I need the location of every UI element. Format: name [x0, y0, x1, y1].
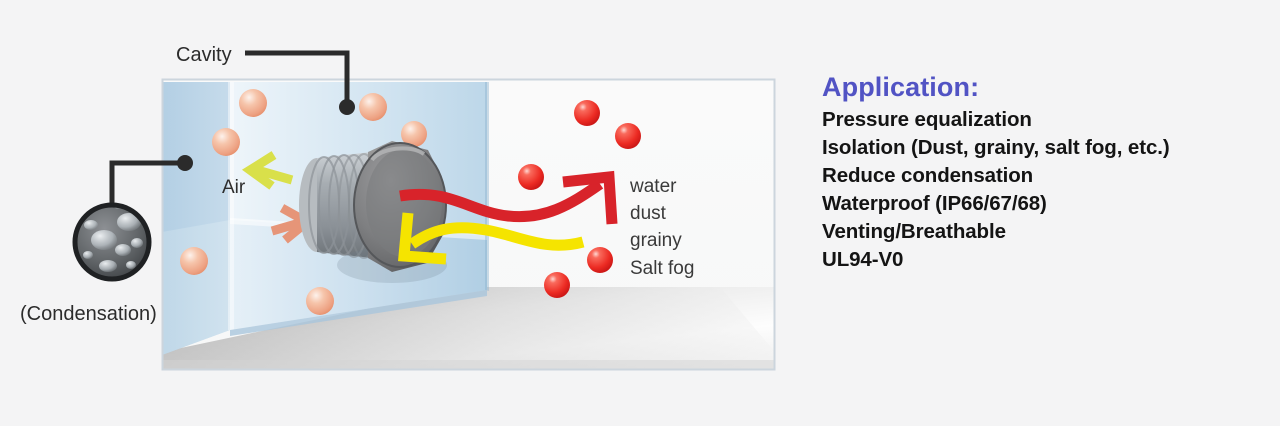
application-list: Pressure equalization Isolation (Dust, g… — [822, 106, 1252, 274]
application-item: Pressure equalization — [822, 106, 1252, 134]
outside-particle — [587, 247, 613, 273]
application-item: UL94-V0 — [822, 246, 1252, 274]
water-bead — [91, 230, 117, 250]
water-bead — [84, 220, 98, 230]
outside-label-grainy: grainy — [630, 230, 682, 251]
inside-particle — [306, 287, 334, 315]
outside-label-dust: dust — [630, 203, 667, 224]
application-item: Isolation (Dust, grainy, salt fog, etc.) — [822, 134, 1252, 162]
diagram-scene: Air — [162, 79, 775, 370]
application-item: Waterproof (IP66/67/68) — [822, 190, 1252, 218]
water-bead — [83, 251, 93, 259]
air-label: Air — [222, 177, 246, 198]
water-bead — [99, 260, 117, 272]
outside-particle — [615, 123, 641, 149]
application-heading: Application: — [822, 72, 1252, 104]
water-bead — [126, 261, 136, 269]
outside-label-salt-fog: Salt fog — [630, 258, 694, 279]
outside-particle — [518, 164, 544, 190]
application-item: Reduce condensation — [822, 162, 1252, 190]
condensation-leader-dot — [177, 155, 193, 171]
inside-particle — [212, 128, 240, 156]
application-panel: Application: Pressure equalization Isola… — [822, 72, 1252, 274]
wall-right-edge — [485, 82, 489, 291]
water-bead — [115, 244, 131, 256]
outside-particle — [574, 100, 600, 126]
inside-particle — [180, 247, 208, 275]
outside-label-water: water — [629, 176, 677, 197]
inside-particle — [359, 93, 387, 121]
wall-corner-edge — [228, 82, 234, 331]
condensation-label: (Condensation) — [20, 303, 157, 325]
outside-particle — [544, 272, 570, 298]
cavity-leader-dot — [339, 99, 355, 115]
water-bead — [131, 238, 143, 248]
inside-particle — [239, 89, 267, 117]
screenshot-root: Air — [0, 0, 1280, 426]
cavity-label: Cavity — [176, 44, 232, 66]
application-item: Venting/Breathable — [822, 218, 1252, 246]
